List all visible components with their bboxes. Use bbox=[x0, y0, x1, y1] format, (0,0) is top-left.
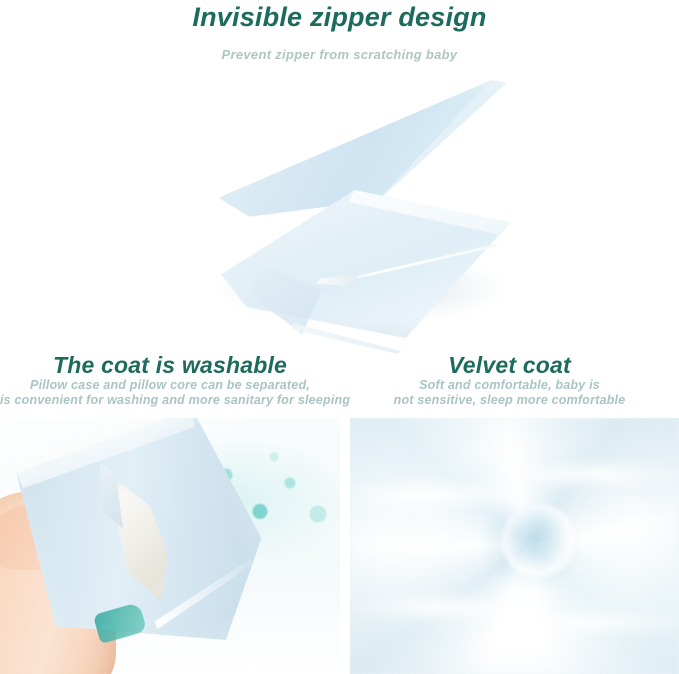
washable-feature-photo bbox=[0, 418, 340, 674]
feature-velvet-title: Velvet coat bbox=[340, 352, 679, 378]
velvet-vignette bbox=[350, 418, 679, 674]
feature-washable-header: The coat is washable Pillow case and pil… bbox=[0, 352, 340, 408]
hero-product-photo bbox=[196, 78, 526, 340]
hero-section: Invisible zipper design Prevent zipper f… bbox=[0, 0, 679, 345]
feature-velvet-subtitle-line2: not sensitive, sleep more comfortable bbox=[340, 393, 679, 408]
product-infographic: Invisible zipper design Prevent zipper f… bbox=[0, 0, 679, 674]
feature-washable-title: The coat is washable bbox=[0, 352, 340, 378]
feature-washable-subtitle-line1: Pillow case and pillow core can be separ… bbox=[0, 378, 340, 393]
velvet-feature-photo bbox=[350, 418, 679, 674]
hero-subtitle: Prevent zipper from scratching baby bbox=[0, 47, 679, 62]
feature-velvet-header: Velvet coat Soft and comfortable, baby i… bbox=[340, 352, 679, 408]
feature-velvet-subtitle-line1: Soft and comfortable, baby is bbox=[340, 378, 679, 393]
hero-title: Invisible zipper design bbox=[0, 2, 679, 33]
feature-washable-subtitle-line2: is convenient for washing and more sanit… bbox=[0, 393, 340, 408]
